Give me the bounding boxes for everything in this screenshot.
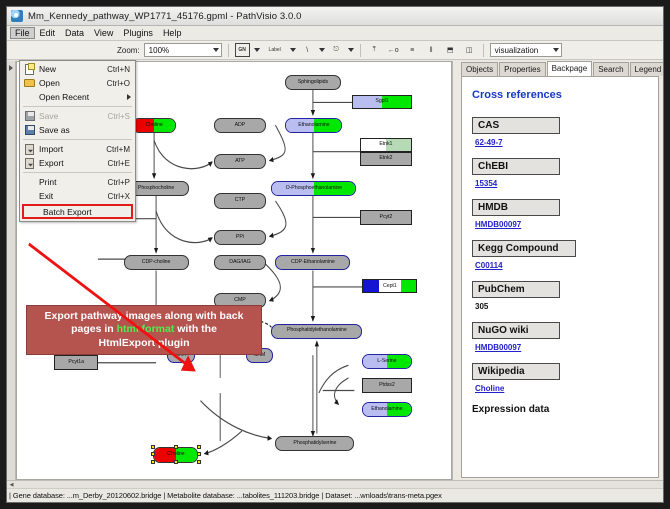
selection-handle[interactable]	[174, 460, 178, 464]
xref-label-nugo-wiki: NuGO wiki	[472, 322, 560, 339]
file-menu-item-shortcut: Ctrl+E	[108, 159, 135, 168]
xref-label-kegg-compound: Kegg Compound	[472, 240, 576, 257]
selection-handle[interactable]	[197, 445, 201, 449]
file-menu-item-label: Import	[39, 144, 106, 154]
submenu-arrow-icon	[127, 94, 131, 100]
status-text: | Gene database: ...m_Derby_20120602.bri…	[7, 489, 663, 502]
file-menu-item-shortcut: Ctrl+M	[106, 145, 135, 154]
file-menu-item-import[interactable]: ImportCtrl+M	[20, 142, 135, 156]
tab-search[interactable]: Search	[593, 62, 628, 76]
file-menu-item-open[interactable]: OpenCtrl+O	[20, 76, 135, 90]
backpage-content: Cross references CAS62-49-7ChEBI15354HMD…	[461, 76, 659, 478]
file-menu-item-save-as[interactable]: Save as	[20, 123, 135, 137]
file-menu-item-shortcut: Ctrl+O	[107, 79, 135, 88]
file-menu-item-shortcut: Ctrl+P	[108, 178, 135, 187]
datanode-tool-icon[interactable]: GN	[235, 43, 250, 57]
file-menu-item-save: SaveCtrl+S	[20, 109, 135, 123]
line-dropdown-icon[interactable]	[319, 48, 325, 52]
save-icon	[20, 111, 39, 121]
xref-label-wikipedia: Wikipedia	[472, 363, 560, 380]
zoom-value: 100%	[149, 46, 169, 55]
file-menu-item-label: Open Recent	[39, 92, 130, 102]
file-menu-item-export[interactable]: ExportCtrl+E	[20, 156, 135, 170]
file-menu-item-label: Print	[39, 177, 108, 187]
xref-value-nugo-wiki[interactable]: HMDB00097	[475, 343, 648, 352]
menu-bar: File Edit Data View Plugins Help	[7, 26, 663, 41]
file-menu-item-label: Export	[39, 158, 108, 168]
xref-value-cas[interactable]: 62-49-7	[475, 138, 648, 147]
side-panel: Objects Properties Backpage Search Legen…	[452, 61, 663, 480]
file-menu-item-label: Exit	[39, 191, 108, 201]
toolbar: Zoom: 100% GN Label \ ⎋ ⤒ ←o ≡ ‖ ⬒ ◫ vis…	[7, 41, 663, 60]
new-document-icon	[20, 64, 39, 75]
export-icon	[20, 158, 39, 169]
selection-handle[interactable]	[197, 452, 201, 456]
selection-handle[interactable]	[174, 445, 178, 449]
canvas-left-strip[interactable]	[7, 61, 16, 480]
visualization-combo[interactable]: visualization	[490, 43, 562, 57]
selection-handle[interactable]	[151, 460, 155, 464]
file-menu-item-label: Save	[39, 111, 108, 121]
stack-tool-icon[interactable]: ◫	[462, 43, 477, 57]
toolbar-separator	[360, 44, 361, 57]
label-tool-icon[interactable]: Label	[264, 43, 286, 57]
datanode-dropdown-icon[interactable]	[254, 48, 260, 52]
horizontal-scrollbar[interactable]: ◀	[7, 481, 663, 489]
shape-dropdown-icon[interactable]	[348, 48, 354, 52]
tab-backpage[interactable]: Backpage	[547, 61, 593, 76]
expression-data-heading: Expression data	[472, 404, 648, 415]
zoom-label: Zoom:	[117, 46, 140, 55]
screenshot-frame: Mm_Kennedy_pathway_WP1771_45176.gpml - P…	[0, 0, 670, 509]
xref-label-hmdb: HMDB	[472, 199, 560, 216]
cross-reference-list: CAS62-49-7ChEBI15354HMDBHMDB00097Kegg Co…	[472, 117, 648, 393]
file-menu-item-exit[interactable]: ExitCtrl+X	[20, 189, 135, 203]
menu-data[interactable]: Data	[60, 27, 89, 39]
xref-value-pubchem: 305	[475, 302, 648, 311]
selection-handle[interactable]	[197, 460, 201, 464]
file-menu-dropdown[interactable]: NewCtrl+NOpenCtrl+OOpen RecentSaveCtrl+S…	[19, 60, 136, 222]
label-dropdown-icon[interactable]	[290, 48, 296, 52]
file-menu-item-batch-export[interactable]: Batch Export	[22, 204, 133, 219]
file-menu-item-label: New	[39, 64, 107, 74]
tab-legend[interactable]: Legend	[630, 62, 664, 76]
xref-label-cas: CAS	[472, 117, 560, 134]
toolbar-separator	[228, 44, 229, 57]
menu-help[interactable]: Help	[158, 27, 187, 39]
application-window: Mm_Kennedy_pathway_WP1771_45176.gpml - P…	[6, 6, 664, 503]
menu-view[interactable]: View	[89, 27, 118, 39]
file-menu-item-shortcut: Ctrl+X	[108, 192, 135, 201]
chevron-down-icon	[213, 48, 219, 52]
zoom-combo[interactable]: 100%	[144, 43, 222, 57]
toolbar-separator	[483, 44, 484, 57]
menu-file[interactable]: File	[10, 27, 35, 39]
selection-handle[interactable]	[151, 445, 155, 449]
status-bar: ◀ | Gene database: ...m_Derby_20120602.b…	[7, 480, 663, 502]
file-menu-item-label: Batch Export	[43, 207, 126, 217]
menu-separator	[23, 139, 132, 140]
visualization-value: visualization	[495, 46, 539, 55]
open-folder-icon	[20, 79, 39, 87]
expand-arrow-icon[interactable]	[9, 65, 13, 71]
window-title: Mm_Kennedy_pathway_WP1771_45176.gpml - P…	[28, 11, 302, 22]
tab-objects[interactable]: Objects	[461, 62, 498, 76]
file-menu-item-open-recent[interactable]: Open Recent	[20, 90, 135, 104]
size-common-tool-icon[interactable]: ⬒	[443, 43, 458, 57]
xref-label-chebi: ChEBI	[472, 158, 560, 175]
save-as-icon	[20, 125, 39, 135]
file-menu-item-new[interactable]: NewCtrl+N	[20, 62, 135, 76]
line-tool-icon[interactable]: \	[300, 43, 315, 57]
align-top-tool-icon[interactable]: ⤒	[367, 43, 382, 57]
menu-plugins[interactable]: Plugins	[118, 27, 158, 39]
import-icon	[20, 144, 39, 155]
selection-handle[interactable]	[151, 452, 155, 456]
side-panel-tabs: Objects Properties Backpage Search Legen…	[453, 61, 663, 76]
xref-value-kegg-compound[interactable]: C00114	[475, 261, 648, 270]
pathvisio-icon	[11, 10, 23, 22]
file-menu-item-shortcut: Ctrl+S	[108, 112, 135, 121]
menu-edit[interactable]: Edit	[35, 27, 61, 39]
scroll-left-icon[interactable]: ◀	[7, 481, 16, 488]
file-menu-item-label: Open	[39, 78, 107, 88]
xref-label-pubchem: PubChem	[472, 281, 560, 298]
menu-separator	[23, 106, 132, 107]
file-menu-item-print[interactable]: PrintCtrl+P	[20, 175, 135, 189]
distribute-horizontal-tool-icon[interactable]: ‖	[424, 43, 439, 57]
file-menu-item-shortcut: Ctrl+N	[107, 65, 135, 74]
shape-tool-icon[interactable]: ⎋	[329, 43, 344, 57]
file-menu-item-label: Save as	[39, 125, 130, 135]
xref-value-chebi[interactable]: 15354	[475, 179, 648, 188]
distribute-vertical-tool-icon[interactable]: ≡	[405, 43, 420, 57]
chevron-down-icon	[553, 48, 559, 52]
tab-properties[interactable]: Properties	[499, 62, 545, 76]
cross-references-heading: Cross references	[472, 89, 648, 101]
xref-value-hmdb[interactable]: HMDB00097	[475, 220, 648, 229]
xref-value-wikipedia[interactable]: Choline	[475, 384, 648, 393]
menu-separator	[23, 172, 132, 173]
title-bar: Mm_Kennedy_pathway_WP1771_45176.gpml - P…	[7, 7, 663, 26]
align-left-tool-icon[interactable]: ←o	[386, 43, 401, 57]
